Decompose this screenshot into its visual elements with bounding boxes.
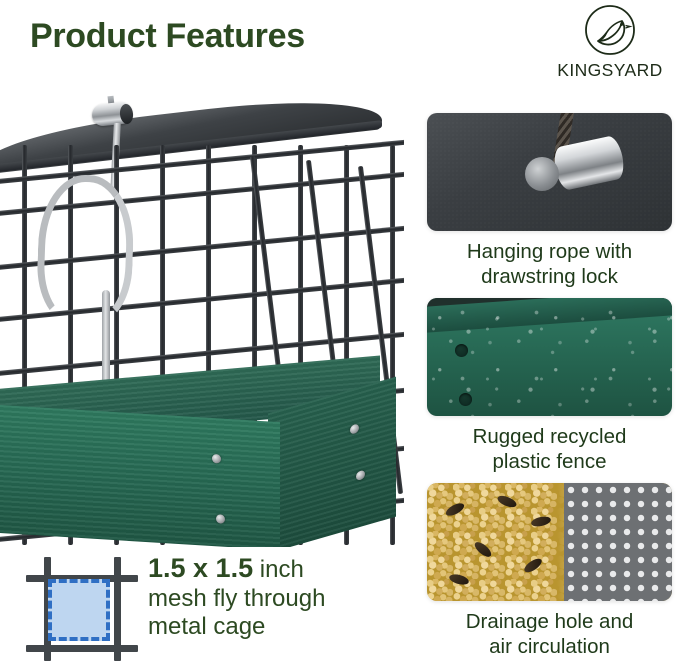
brand-logo: KINGSYARD bbox=[549, 4, 671, 88]
feature-column: Hanging rope with drawstring lock Rugged… bbox=[420, 100, 679, 668]
fence-front-panel bbox=[0, 404, 280, 547]
feature-caption-drainage: Drainage hole and air circulation bbox=[420, 610, 679, 659]
feature-block-plastic-fence: Rugged recycled plastic fence bbox=[420, 298, 679, 474]
page-title: Product Features bbox=[30, 17, 305, 56]
caption-line-1: Drainage hole and bbox=[466, 610, 634, 633]
brand-wordmark: KINGSYARD bbox=[549, 60, 671, 81]
main-product-photo: KINGSYARD — ★ — bbox=[0, 95, 404, 547]
feature-block-drainage: Drainage hole and air circulation bbox=[420, 483, 679, 659]
board-hole-upper bbox=[455, 344, 468, 357]
feature-block-rope-lock: Hanging rope with drawstring lock bbox=[420, 113, 679, 289]
fence-board-top-edge bbox=[427, 298, 672, 333]
caption-line-2: drawstring lock bbox=[481, 265, 618, 288]
mesh-feature: 1.5 x 1.5 inch mesh fly through metal ca… bbox=[26, 553, 406, 665]
feature-caption-plastic-fence: Rugged recycled plastic fence bbox=[420, 425, 679, 474]
mesh-caption: 1.5 x 1.5 inch mesh fly through metal ca… bbox=[148, 553, 406, 641]
mesh-size-unit: inch bbox=[253, 556, 304, 583]
recycled-plastic-fence-photo bbox=[427, 298, 672, 416]
caption-line-1: Rugged recycled bbox=[473, 425, 627, 448]
mesh-caption-line3: metal cage bbox=[148, 613, 265, 640]
mesh-size-value: 1.5 x 1.5 bbox=[148, 553, 253, 583]
caption-line-1: Hanging rope with bbox=[467, 240, 632, 263]
board-hole-lower bbox=[459, 393, 472, 406]
hanging-rope-lock-photo bbox=[427, 113, 672, 231]
chrome-lock-cap bbox=[525, 157, 559, 191]
feature-caption-rope-lock: Hanging rope with drawstring lock bbox=[420, 240, 679, 289]
mesh-grid-icon bbox=[26, 557, 138, 661]
product-features-infographic: Product Features KINGSYARD bbox=[0, 0, 679, 668]
fence-shadow-gap bbox=[427, 298, 672, 312]
perforated-drainage-mesh bbox=[564, 483, 672, 601]
mesh-cell bbox=[48, 579, 110, 641]
header: Product Features KINGSYARD bbox=[0, 0, 679, 95]
caption-line-2: air circulation bbox=[489, 635, 610, 658]
bird-in-circle-icon bbox=[581, 4, 639, 62]
drainage-hole-seed-photo bbox=[427, 483, 672, 601]
caption-line-2: plastic fence bbox=[493, 450, 607, 473]
mesh-caption-line2: mesh fly through bbox=[148, 585, 325, 612]
